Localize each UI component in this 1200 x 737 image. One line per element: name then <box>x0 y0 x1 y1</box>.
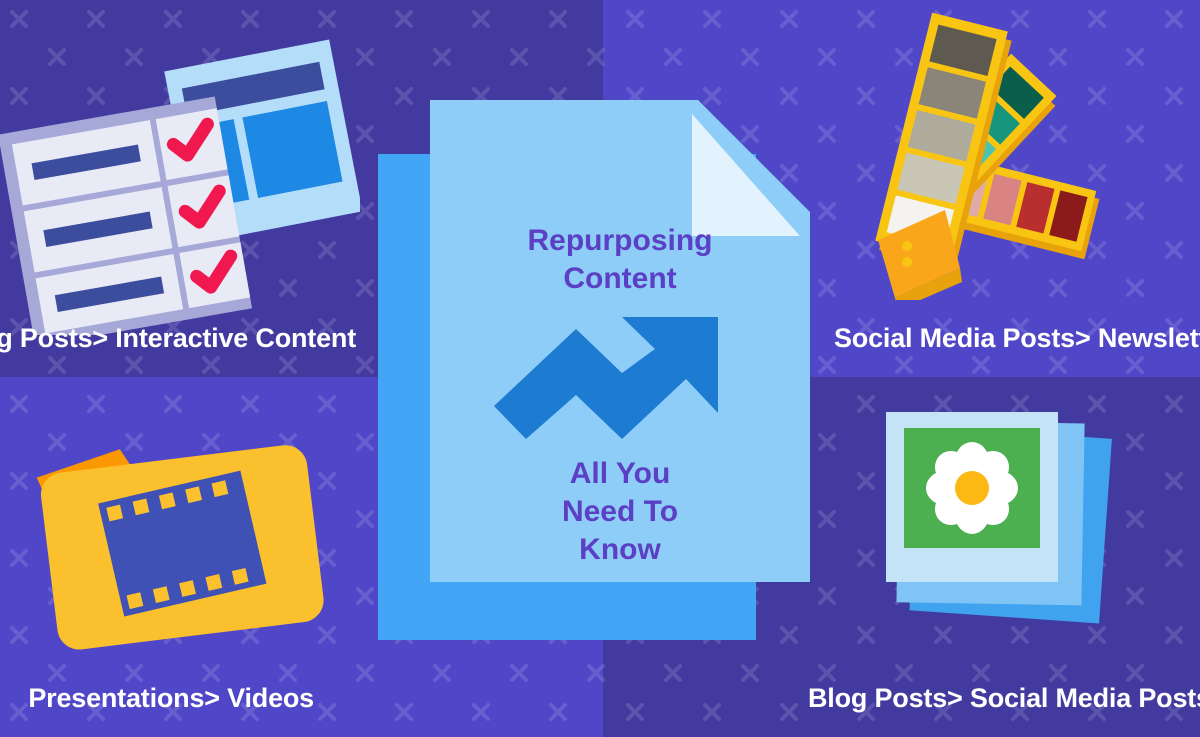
label-bottom-left: Presentations> Videos <box>0 674 603 722</box>
video-folder-icon <box>20 430 350 665</box>
flower-center <box>955 471 989 505</box>
color-swatch-fan-icon <box>850 10 1200 305</box>
document-subtitle: All You Need To Know <box>430 455 810 569</box>
label-top-right: Social Media Posts> Newslette <box>603 314 1200 362</box>
checklist-card <box>0 96 252 335</box>
label-top-left: g Posts> Interactive Content <box>0 314 603 362</box>
label-bottom-right: Blog Posts> Social Media Posts <box>603 674 1200 722</box>
document-subtitle-line-2: Need To <box>430 493 810 531</box>
poster-canvas: Repurposing Content All You Need To Know… <box>0 0 1200 737</box>
document-subtitle-line-1: All You <box>430 455 810 493</box>
document-title: Repurposing Content <box>430 222 810 298</box>
photo-stack-icon <box>860 390 1160 655</box>
checklist-and-layout-icon <box>0 35 360 340</box>
document-title-line-1: Repurposing <box>430 222 810 260</box>
photo-frame-front <box>886 412 1058 582</box>
document-title-line-2: Content <box>430 260 810 298</box>
document-subtitle-line-3: Know <box>430 531 810 569</box>
flower-icon <box>926 442 1018 534</box>
